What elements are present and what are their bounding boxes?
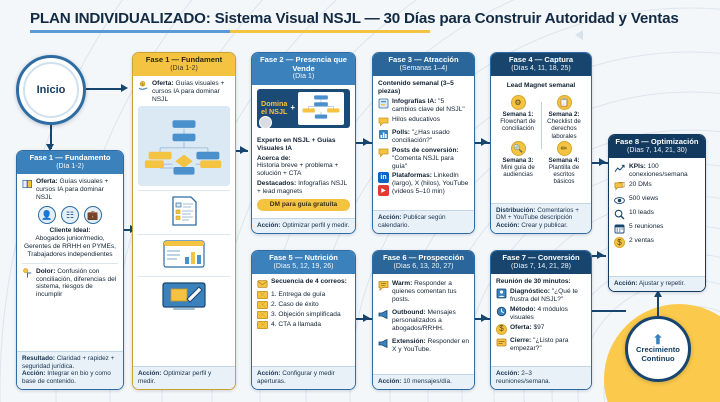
method-icon: [496, 306, 507, 317]
infographic-icon: [378, 98, 389, 109]
fase8-kpi: 10 leads: [614, 209, 700, 220]
plus-icon: +: [290, 103, 295, 113]
search-doc-icon: 🔍: [511, 141, 526, 156]
design-icon: [161, 281, 207, 313]
card-fase6-body: Warm: Responder a quienes comentan tus p…: [373, 274, 474, 374]
envelope-icon: [257, 301, 268, 309]
fase7-footer-label: Acción:: [496, 370, 519, 377]
fase8-kpi: $ 2 ventas: [614, 237, 700, 248]
pencil-icon: ✏: [557, 141, 572, 156]
price-icon: $: [496, 324, 507, 335]
fase8-kpi: 500 views: [614, 195, 700, 206]
card-fase5-subtitle: (Días 5, 12, 19, 26): [256, 263, 351, 271]
divider: [138, 276, 230, 277]
card-fase1-left-body: Oferta: Guías visuales + cursos IA para …: [17, 174, 123, 350]
flowchart-icon: [300, 94, 342, 120]
card-fase8-header: Fase 8 — Optimización (Días 7, 14, 21, 3…: [609, 135, 705, 158]
fase2-destacados: Destacados: Infografías NSJL + lead magn…: [257, 180, 350, 196]
fase1-cliente-ideal: Cliente Ideal: Abogados junior/medio, Ge…: [22, 227, 118, 259]
comment-icon: [378, 147, 389, 158]
close-deal-icon: [496, 337, 507, 348]
card-fase4-body: Lead Magnet semanal ⚙ Semana 1:Flowchart…: [491, 76, 591, 202]
envelope-icon: [257, 311, 268, 319]
fase4-cell: ✏ Semana 4:Plantilla de escritos básicos: [542, 141, 586, 186]
card-fase1-top-footer: Acción: Optimizar perfil y medir.: [133, 366, 235, 389]
clipboard-icon: 📋: [557, 95, 572, 110]
fase7-item: Diagnóstico: "¿Qué te frustra del NSJL?": [496, 288, 586, 304]
card-fase1-top-title: Fase 1 — Fundament: [137, 56, 231, 65]
fase7-item: $ Oferta: $97: [496, 324, 586, 335]
calendar-icon: [614, 223, 625, 234]
title-underline: [30, 30, 430, 33]
arrow-fase2-fase3: [363, 138, 370, 146]
dashboard-icon: [163, 239, 205, 269]
dashboard-thumb: [138, 239, 230, 272]
card-fase8-footer: Acción: Ajustar y repetir.: [609, 276, 705, 291]
card-fase8-subtitle: (Días 7, 14, 21, 30): [613, 147, 701, 155]
fase3-item: in ▶ Plataformas: LinkedIn (largo), X (h…: [378, 172, 469, 196]
card-fase8-title: Fase 8 — Optimización: [613, 138, 701, 147]
card-fase7-header: Fase 7 — Conversión (Días 7, 14, 21, 28): [491, 251, 591, 274]
card-fase7[interactable]: Fase 7 — Conversión (Días 7, 14, 21, 28)…: [490, 250, 592, 390]
fase1-dolor-row: Dolor: Confusión con conciliación, difer…: [22, 268, 118, 300]
coin-icon: $: [614, 237, 625, 248]
card-fase1-left-header: Fase 1 — Fundamento (Día 1-2): [17, 151, 123, 174]
fase5-footer-label: Acción:: [257, 370, 280, 377]
card-fase3-title: Fase 3 — Atracción: [377, 56, 470, 65]
card-fase5-footer: Acción: Configurar y medir aperturas.: [252, 366, 355, 389]
fase7-item: Método: 4 módulos visuales: [496, 306, 586, 322]
divider: [138, 190, 230, 191]
fase5-step: 1. Entrega de guía: [257, 291, 350, 299]
divider: [22, 263, 118, 264]
node-crecimiento-continuo[interactable]: ⬆ Crecimiento Continuo: [625, 316, 691, 382]
fase1-cliente-text: Abogados junior/medio, Gerentes de RRHH …: [22, 235, 118, 259]
document-thumb: [138, 195, 230, 230]
fase3-item: Hilos educativos: [378, 116, 469, 127]
fase8-kpi: 20 DMs: [614, 181, 700, 192]
card-fase2-header: Fase 2 — Presencia que Vende (Día 1): [252, 53, 355, 85]
fase8-kpi: KPIs: 100 conexiones/semana: [614, 163, 700, 178]
chat-icon: [378, 280, 389, 291]
fase3-item: Posts de conversión: "Comenta NSJL para …: [378, 147, 469, 171]
design-thumb: [138, 281, 230, 316]
divider: [138, 234, 230, 235]
flowchart-icon: ⚙: [511, 95, 526, 110]
fase5-heading: Secuencia de 4 correos:: [271, 278, 347, 286]
poll-icon: [378, 129, 389, 140]
card-fase1-left-subtitle: (Día 1-2): [21, 163, 119, 171]
card-fase5-body: Secuencia de 4 correos: 1. Entrega de gu…: [252, 274, 355, 366]
fase1-resultado: Resultado: Claridad + rapidez + segurida…: [22, 355, 118, 371]
page-title-block: PLAN INDIVIDUALIZADO: Sistema Visual NSJ…: [30, 10, 679, 33]
arrow-inicio-right: [121, 84, 128, 92]
fase1top-oferta-text: Oferta: Guías visuales + cursos IA para …: [152, 80, 230, 104]
card-fase4[interactable]: Fase 4 — Captura (Días 4, 11, 18, 25) Le…: [490, 52, 592, 234]
briefcase-icon: 💼: [84, 206, 102, 224]
fase4-heading: Lead Magnet semanal: [496, 82, 586, 90]
card-fase1-top-header: Fase 1 — Fundament (Día 1-2): [133, 53, 235, 76]
fase4-distribucion: Distribución: Comentarios + DM + YouTube…: [496, 207, 586, 223]
pain-icon: [22, 268, 33, 279]
fase5-step: 3. Objeción simplificada: [257, 311, 350, 319]
thread-icon: [378, 116, 389, 127]
fase5-steps: 1. Entrega de guía 2. Caso de éxito 3. O…: [257, 291, 350, 329]
fase4-cell: 🔍 Semana 3:Mini guía de audiencias: [496, 141, 540, 186]
card-fase1-left-footer: Resultado: Claridad + rapidez + segurida…: [17, 351, 123, 389]
fase6-item: Warm: Responder a quienes comentan tus p…: [378, 280, 469, 304]
fase1-oferta-row: Oferta: Guías visuales + cursos IA para …: [22, 178, 118, 202]
card-fase6-subtitle: (Días 6, 13, 20, 27): [377, 263, 470, 271]
fase8-kpi: 5 reuniones: [614, 223, 700, 234]
card-fase7-body: Reunión de 30 minutos: Diagnóstico: "¿Qu…: [491, 274, 591, 366]
fase1top-oferta-row: $ Oferta: Guías visuales + cursos IA par…: [138, 80, 230, 104]
fase1-cliente-label: Cliente Ideal:: [49, 227, 90, 234]
arrow-fase6-fase7: [481, 314, 488, 322]
fase6-footer-label: Acción:: [378, 378, 401, 385]
fase7-heading: Reunión de 30 minutos:: [496, 278, 586, 286]
youtube-icon: ▶: [378, 185, 389, 196]
eye-icon: [614, 195, 625, 206]
card-fase6-footer: Acción: 10 mensajes/día.: [373, 374, 474, 389]
search-icon: [614, 209, 625, 220]
card-fase6-header: Fase 6 — Prospección (Días 6, 13, 20, 27…: [373, 251, 474, 274]
fase4-accion: Acción: Crear y publicar.: [496, 222, 586, 230]
card-fase5-header: Fase 5 — Nutrición (Días 5, 12, 19, 26): [252, 251, 355, 274]
underline-blue: [30, 30, 230, 33]
connector-fase7-crecimiento: [592, 310, 626, 312]
node-crecimiento-line2: Continuo: [641, 355, 674, 364]
card-fase4-header: Fase 4 — Captura (Días 4, 11, 18, 25): [491, 53, 591, 76]
card-fase6-title: Fase 6 — Prospección: [377, 254, 470, 263]
book-icon: [22, 178, 33, 189]
card-fase1-left-title: Fase 1 — Fundamento: [21, 154, 119, 163]
card-fase1-top-body: $ Oferta: Guías visuales + cursos IA par…: [133, 76, 235, 366]
persona-icon-group: 👤 ☷ 💼: [22, 206, 118, 224]
fase1-accion: Acción: Integrar en bio y como base de c…: [22, 370, 118, 386]
card-fase7-subtitle: (Días 7, 14, 21, 28): [495, 263, 587, 271]
page-title: PLAN INDIVIDUALIZADO: Sistema Visual NSJ…: [30, 10, 679, 27]
card-fase3-subtitle: (Semanas 1–4): [377, 65, 470, 73]
card-fase2-body: Domina el NSJL + Experto en NSJL + Guías…: [252, 85, 355, 218]
fase2-thumb: [298, 92, 344, 125]
card-fase2-footer: Acción: Optimizar perfil y medir.: [252, 218, 355, 233]
card-fase1-top-subtitle: (Día 1-2): [137, 65, 231, 73]
card-fase4-title: Fase 4 — Captura: [495, 56, 587, 65]
fase2-footer-label: Acción:: [257, 222, 280, 229]
fase7-item: Cierre: "¿Listo para empezar?": [496, 337, 586, 353]
card-fase2-title: Fase 2 — Presencia que Vende: [256, 56, 351, 73]
arrow-fase7-right: [597, 251, 604, 259]
fase8-footer-text: Ajustar y repetir.: [639, 280, 685, 287]
money-hand-icon: $: [138, 80, 149, 91]
card-fase2[interactable]: Fase 2 — Presencia que Vende (Día 1) Dom…: [251, 52, 356, 234]
fase1top-footer-label: Acción:: [138, 370, 161, 377]
node-inicio-label: Inicio: [37, 84, 66, 96]
dm-icon: [614, 181, 625, 192]
card-fase1-top[interactable]: Fase 1 — Fundament (Día 1-2) $ Oferta: G…: [132, 52, 236, 390]
card-fase6[interactable]: Fase 6 — Prospección (Días 6, 13, 20, 27…: [372, 250, 475, 390]
fase2-acerca: Acerca de: Historia breve + problema + s…: [257, 155, 350, 179]
fase5-step: 4. CTA a llamada: [257, 321, 350, 329]
node-inicio[interactable]: Inicio: [16, 55, 86, 125]
linkedin-icon: in: [378, 172, 389, 183]
fase5-step: 2. Caso de éxito: [257, 301, 350, 309]
card-fase7-footer: Acción: 2–3 reuniones/semana.: [491, 366, 591, 389]
megaphone-icon: [378, 309, 389, 320]
flowchart-icon: [141, 116, 227, 176]
fase2-cta-button[interactable]: DM para guía gratuita: [257, 199, 350, 211]
card-fase1-left[interactable]: Fase 1 — Fundamento (Día 1-2) Oferta: Gu…: [16, 150, 124, 390]
underline-yellow: [230, 30, 430, 33]
card-fase5[interactable]: Fase 5 — Nutrición (Días 5, 12, 19, 26) …: [251, 250, 356, 390]
fase2-brand-text: Domina el NSJL: [261, 100, 287, 116]
lawyer-icon: 👤: [38, 206, 56, 224]
megaphone-icon: [378, 338, 389, 349]
card-fase2-subtitle: (Día 1): [256, 73, 351, 81]
org-chart-icon: ☷: [61, 206, 79, 224]
document-icon: [167, 195, 201, 227]
arrow-fase1top-fase2: [240, 146, 247, 154]
fase6-footer-text: 10 mensajes/día.: [403, 378, 452, 385]
up-arrow-icon: ⬆: [653, 335, 664, 345]
envelope-icon: [257, 321, 268, 329]
diagnostic-icon: [496, 288, 507, 299]
envelope-icon: [257, 291, 268, 299]
card-fase3-header: Fase 3 — Atracción (Semanas 1–4): [373, 53, 474, 76]
card-fase4-footer: Distribución: Comentarios + DM + YouTube…: [491, 203, 591, 233]
fase2-experto: Experto en NSJL + Guías Visuales IA: [257, 137, 350, 153]
card-fase4-subtitle: (Días 4, 11, 18, 25): [495, 65, 587, 73]
fase6-item: Outbound: Mensajes personalizados a abog…: [378, 309, 469, 333]
flowchart-thumb: [138, 106, 230, 186]
card-fase8[interactable]: Fase 8 — Optimización (Días 7, 14, 21, 3…: [608, 134, 706, 292]
svg-text:$: $: [142, 82, 144, 86]
fase3-footer-label: Acción:: [378, 214, 401, 221]
fase4-cell: ⚙ Semana 1:Flowchart de conciliación: [496, 95, 540, 140]
fase5-heading-row: Secuencia de 4 correos:: [257, 278, 350, 289]
card-fase8-body: KPIs: 100 conexiones/semana 20 DMs 500 v…: [609, 158, 705, 276]
mail-stack-icon: [257, 278, 268, 289]
fase4-grid: ⚙ Semana 1:Flowchart de conciliación 📋 S…: [496, 95, 586, 185]
card-fase3-body: Contenido semanal (3–5 piezas) Infografí…: [373, 76, 474, 210]
avatar: [259, 116, 272, 129]
card-fase7-title: Fase 7 — Conversión: [495, 254, 587, 263]
card-fase3-footer: Acción: Publicar según calendario.: [373, 210, 474, 233]
fase6-item: Extensión: Responder en X y YouTube.: [378, 338, 469, 354]
arrow-fase4-fase8: [599, 158, 606, 166]
fase3-heading: Contenido semanal (3–5 piezas): [378, 80, 469, 96]
fase3-item: Polls: "¿Has usado conciliación?": [378, 129, 469, 145]
fase2-footer-text: Optimizar perfil y medir.: [282, 222, 349, 229]
arrow-fase3-fase4: [481, 138, 488, 146]
connector-inicio-to-fase1top: [86, 88, 122, 90]
fase4-grid-wrap: ⚙ Semana 1:Flowchart de conciliación 📋 S…: [496, 95, 586, 185]
fase1-dolor-text: Dolor: Confusión con conciliación, difer…: [36, 268, 118, 300]
card-fase5-title: Fase 5 — Nutrición: [256, 254, 351, 263]
trend-icon: [614, 163, 625, 174]
fase4-cell: 📋 Semana 2:Checklist de derechos laboral…: [542, 95, 586, 140]
fase3-item: Infografías IA: "5 cambios clave del NSJ…: [378, 98, 469, 114]
fase1-oferta-text: Oferta: Guías visuales + cursos IA para …: [36, 178, 118, 202]
card-fase3[interactable]: Fase 3 — Atracción (Semanas 1–4) Conteni…: [372, 52, 475, 234]
fase8-footer-label: Acción:: [614, 280, 637, 287]
arrow-fase5-fase6: [363, 314, 370, 322]
